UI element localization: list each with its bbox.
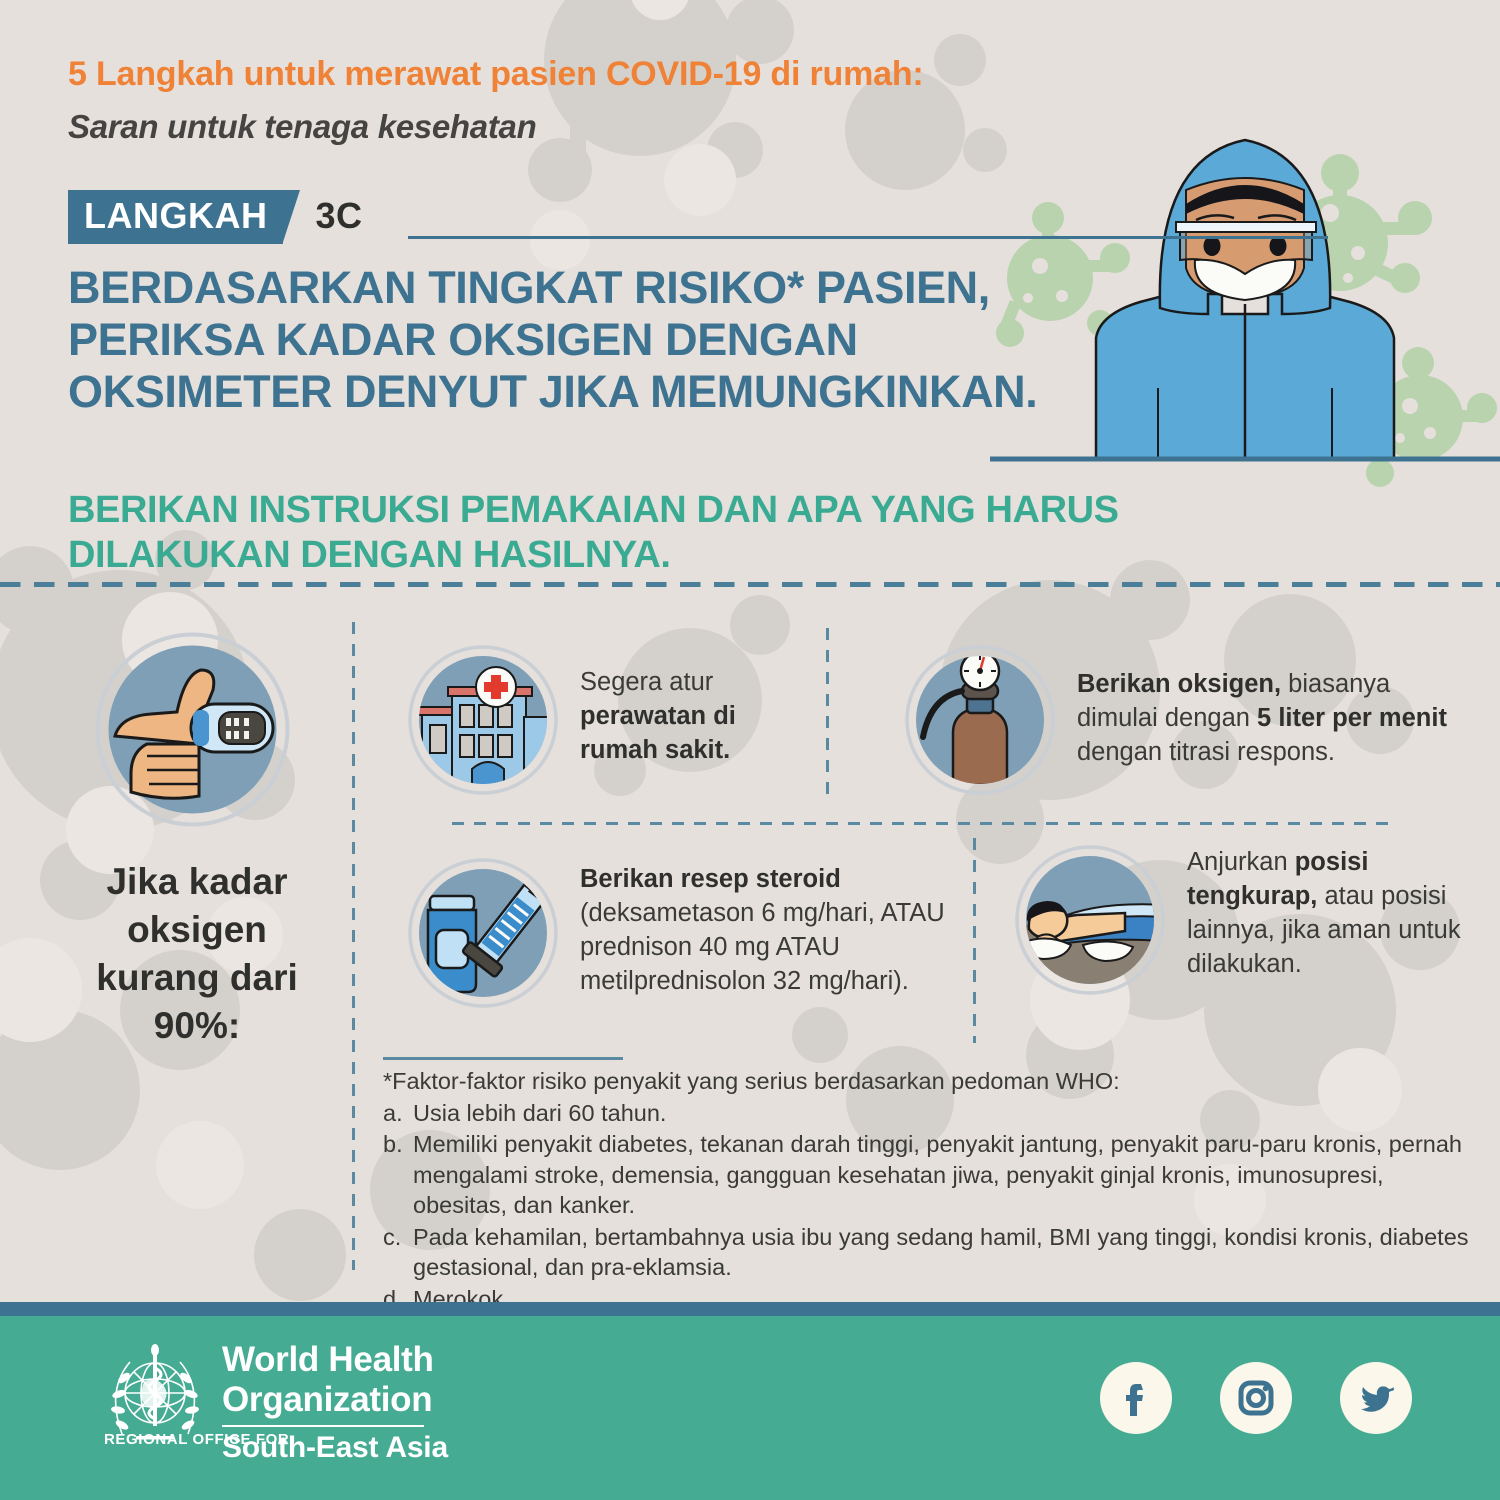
- section-divider-dashed: [0, 582, 1500, 587]
- instagram-button[interactable]: [1220, 1362, 1292, 1434]
- footnote-item: a. Usia lebih dari 60 tahun.: [383, 1098, 1473, 1129]
- who-line-2: Organization: [222, 1380, 448, 1420]
- step-headline-primary: BERDASARKAN TINGKAT RISIKO* PASIEN, PERI…: [68, 262, 1048, 418]
- step-badge-number: 3C: [315, 190, 362, 237]
- text-run: dengan titrasi respons.: [1077, 738, 1335, 766]
- column-divider-2: [826, 628, 829, 800]
- who-regional-office-label: REGIONAL OFFICE FOR: [104, 1431, 289, 1448]
- text-run: Segera atur: [580, 668, 713, 696]
- footnote-marker: c.: [383, 1222, 413, 1283]
- instagram-icon: [1236, 1378, 1276, 1418]
- text-run-bold: Berikan oksigen,: [1077, 670, 1281, 698]
- text-run-bold: perawatan di rumah sakit.: [580, 702, 736, 764]
- recommendation-text-oxygen: Berikan oksigen, biasanya dimulai dengan…: [1077, 645, 1465, 769]
- text-run: (deksametason 6 mg/hari, ATAU prednison …: [580, 899, 945, 995]
- footnote-rule: [383, 1057, 623, 1060]
- footer-accent-strip: [0, 1302, 1500, 1316]
- recommendation-card-oxygen: Berikan oksigen, biasanya dimulai dengan…: [905, 645, 1465, 795]
- step-badge-label: LANGKAH: [68, 190, 283, 244]
- footnote-item: c. Pada kehamilan, bertambahnya usia ibu…: [383, 1222, 1473, 1283]
- footnote-marker: b.: [383, 1129, 413, 1221]
- twitter-button[interactable]: [1340, 1362, 1412, 1434]
- who-line-1: World Health: [222, 1340, 448, 1380]
- step-headline-secondary: BERIKAN INSTRUKSI PEMAKAIAN DAN APA YANG…: [68, 488, 1318, 578]
- text-run-bold: Berikan resep steroid: [580, 865, 841, 893]
- page-title: 5 Langkah untuk merawat pasien COVID-19 …: [68, 55, 1328, 94]
- recommendation-card-steroid: Berikan resep steroid (deksametason 6 mg…: [408, 858, 968, 1008]
- recommendation-text-hospital: Segera atur perawatan di rumah sakit.: [580, 645, 798, 767]
- social-links: [1100, 1362, 1412, 1434]
- footnote-body: Pada kehamilan, bertambahnya usia ibu ya…: [413, 1222, 1473, 1283]
- footnote-lead: *Faktor-faktor risiko penyakit yang seri…: [383, 1066, 1473, 1097]
- vial-and-syringe-icon: [408, 858, 558, 1008]
- recommendation-text-prone: Anjurkan posisi tengkurap, atau posisi l…: [1187, 845, 1465, 981]
- oxygen-cylinder-icon: [905, 645, 1055, 795]
- prone-position-patient-icon: [1015, 845, 1165, 995]
- footnote-block: *Faktor-faktor risiko penyakit yang seri…: [383, 1066, 1473, 1314]
- row-divider: [452, 822, 1392, 825]
- column-divider-3: [973, 838, 976, 1043]
- twitter-icon: [1355, 1377, 1397, 1419]
- recommendation-card-prone: Anjurkan posisi tengkurap, atau posisi l…: [1015, 845, 1465, 995]
- footnote-body: Memiliki penyakit diabetes, tekanan dara…: [413, 1129, 1473, 1221]
- healthcare-worker-ppe-illustration: [990, 118, 1500, 488]
- facebook-button[interactable]: [1100, 1362, 1172, 1434]
- page-subtitle: Saran untuk tenaga kesehatan: [68, 108, 968, 146]
- footnote-marker: a.: [383, 1098, 413, 1129]
- recommendation-card-hospital: Segera atur perawatan di rumah sakit.: [408, 645, 798, 795]
- column-divider-1: [352, 622, 355, 1270]
- text-run: Anjurkan: [1187, 848, 1295, 876]
- footnote-item: b. Memiliki penyakit diabetes, tekanan d…: [383, 1129, 1473, 1221]
- text-run-bold: 5 liter per menit: [1257, 704, 1447, 732]
- hospital-building-icon: [408, 645, 558, 795]
- oxygen-threshold-text: Jika kadar oksigen kurang dari 90%:: [62, 858, 332, 1050]
- step-badge: LANGKAH 3C: [68, 190, 363, 244]
- pulse-oximeter-on-finger-icon: [95, 632, 290, 827]
- badge-rule: [408, 236, 1328, 239]
- recommendation-text-steroid: Berikan resep steroid (deksametason 6 mg…: [580, 858, 968, 998]
- footnote-body: Usia lebih dari 60 tahun.: [413, 1098, 1473, 1129]
- facebook-icon: [1116, 1378, 1156, 1418]
- who-wordmark-divider: [222, 1425, 424, 1427]
